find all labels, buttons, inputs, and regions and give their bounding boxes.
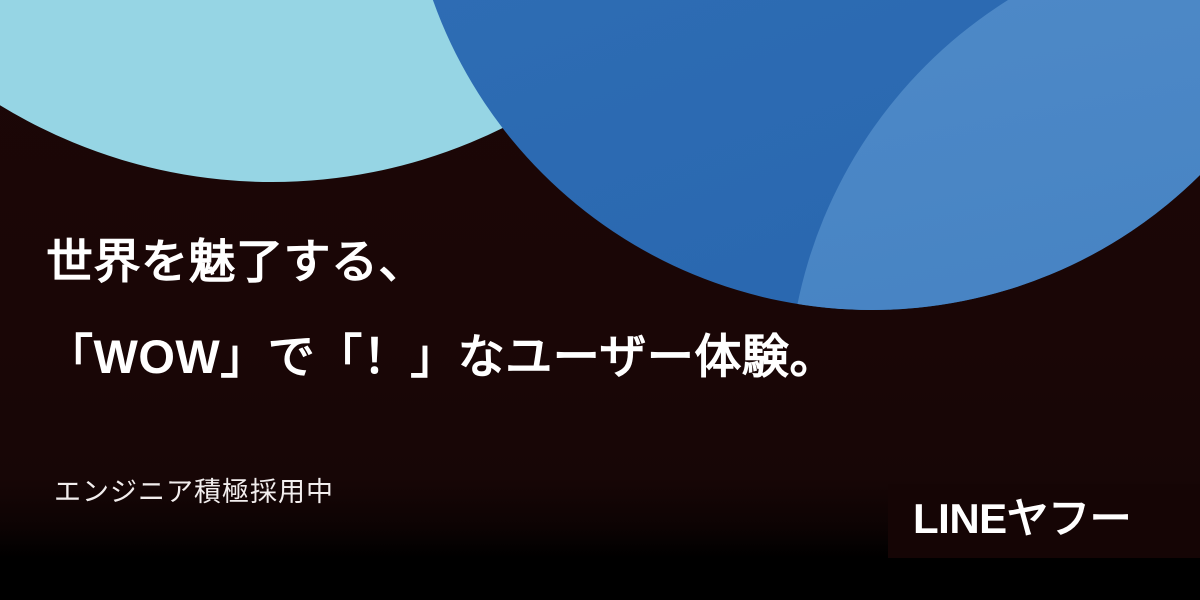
headline-block: 世界を魅了する、 「WOW」で「！」なユーザー体験。	[46, 238, 1046, 380]
headline-line-2: 「WOW」で「！」なユーザー体験。	[46, 333, 1046, 380]
lineyahoo-logo: LINEヤフー	[913, 489, 1131, 550]
recruitment-subtitle: エンジニア積極採用中	[54, 476, 334, 508]
headline-line-1: 世界を魅了する、	[46, 238, 1046, 285]
recruitment-banner: 世界を魅了する、 「WOW」で「！」なユーザー体験。 エンジニア積極採用中 LI…	[0, 0, 1200, 600]
